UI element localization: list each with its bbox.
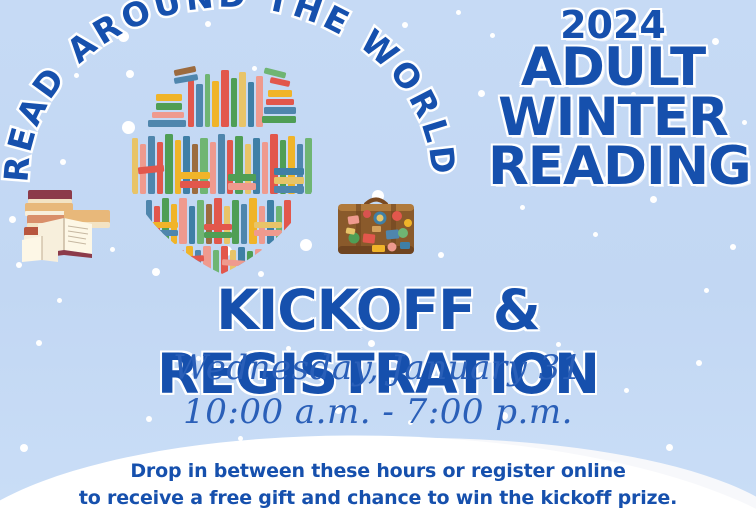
arched-tagline-text: READ AROUND THE WORLD bbox=[0, 0, 464, 183]
event-date: Wednesday, January 31 bbox=[0, 348, 756, 388]
snowflake-dot bbox=[438, 252, 444, 258]
snowflake-dot bbox=[20, 444, 28, 452]
headline-adult: ADULT bbox=[488, 43, 738, 92]
detail-line-1: Drop in between these hours or register … bbox=[0, 460, 756, 482]
headline-reading: READING bbox=[488, 142, 738, 191]
snowflake-dot bbox=[730, 244, 736, 250]
snowflake-dot bbox=[478, 90, 485, 97]
headline-block: 2024 ADULT WINTER READING bbox=[488, 8, 738, 191]
snowflake-dot bbox=[742, 120, 747, 125]
snowflake-dot bbox=[520, 205, 525, 210]
snowflake-dot bbox=[666, 444, 673, 451]
travel-suitcase-illustration bbox=[330, 190, 422, 262]
snowflake-dot bbox=[650, 196, 657, 203]
headline-winter: WINTER bbox=[488, 93, 738, 142]
event-time: 10:00 a.m. - 7:00 p.m. bbox=[0, 392, 756, 432]
snowflake-dot bbox=[593, 232, 598, 237]
detail-line-2: to receive a free gift and chance to win… bbox=[0, 487, 756, 509]
winter-reading-poster: READ AROUND THE WORLD 2024 ADULT WINTER … bbox=[0, 0, 756, 528]
arched-tagline: READ AROUND THE WORLD bbox=[0, 0, 470, 196]
